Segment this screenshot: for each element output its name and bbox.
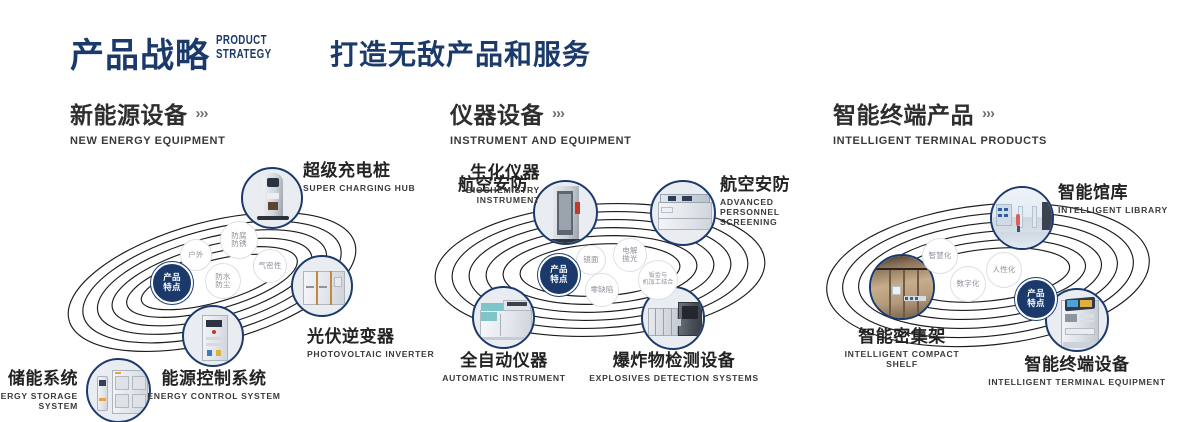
node-label-biochemistry-instrument: 生化仪器 BIOCHEMISTRY INSTRUMENT [432,158,540,205]
page-title-en-line1: PRODUCT [216,33,267,47]
node-label-en: INTELLIGENT COMPACT SHELF [841,349,963,369]
node-label-en: AUTOMATIC INSTRUMENT [420,373,588,383]
section-title-cn: 智能终端产品 [833,96,974,130]
feature-bubble-zero-defect: 零缺陷 [585,273,619,307]
node-label-cn: 爆炸物检测设备 [576,346,772,371]
energy-control-photo [184,307,242,365]
pv-inverter-photo [293,257,351,315]
node-label-intelligent-compact-shelf: 智能密集架 INTELLIGENT COMPACT SHELF [814,322,990,369]
node-label-cn: 超级充电桩 [303,156,415,181]
bubble-line1: 钣金与 [649,273,668,279]
bubble-line1: 人性化 [992,265,1015,274]
node-label-intelligent-terminal-equipment: 智能终端设备 INTELLIGENT TERMINAL EQUIPMENT [970,350,1184,387]
bubble-line2: 特点 [1027,298,1044,308]
biochemistry-photo [535,182,596,243]
bubble-line1: 气密性 [258,261,281,270]
node-photovoltaic-inverter[interactable] [291,255,353,317]
bubble-line2: 防锈 [231,239,246,248]
chevron-right-triple-icon: ››› [982,105,994,122]
node-label-super-charging-hub: 超级充电桩 SUPER CHARGING HUB [303,156,415,193]
node-label-intelligent-library: 智能馆库 INTELLIGENT LIBRARY [1058,178,1168,215]
section-title-cn: 仪器设备 [450,96,544,130]
node-advanced-personnel-screening[interactable] [650,180,716,246]
node-label-cn: 能源控制系统 [118,364,310,389]
node-label-en: EXPLOSIVES DETECTION SYSTEMS [576,373,772,383]
bubble-line1: 产品 [163,272,180,282]
node-label-en: INTELLIGENT LIBRARY [1058,205,1168,215]
page-header: 产品战略 PRODUCT STRATEGY 打造无敌产品和服务 [0,0,1200,90]
center-bubble-product-features: 产品 特点 [151,262,193,304]
bubble-line2: 防尘 [215,280,230,289]
section-title-instrument: 仪器设备››› INSTRUMENT AND EQUIPMENT [450,96,631,147]
bubble-line2: 特点 [550,274,567,284]
node-label-en: SUPER CHARGING HUB [303,183,415,193]
bubble-line2: 抛光 [622,254,637,263]
section-title-new-energy: 新能源设备››› NEW ENERGY EQUIPMENT [70,96,225,147]
node-label-cn: 智能馆库 [1058,178,1168,203]
feature-bubble-mirror-finish: 镜面 [576,245,606,275]
screening-photo [652,182,714,244]
bubble-line1: 产品 [1027,288,1044,298]
page-title-cn: 产品战略 [70,28,210,77]
charging-hub-photo [243,169,301,227]
bubble-line1: 数字化 [956,279,979,288]
node-automatic-instrument[interactable] [472,286,535,349]
node-label-cn: 智能密集架 [814,322,990,347]
node-label-en: ENERGY STORAGE SYSTEM [0,391,78,411]
bubble-line1: 智慧化 [928,251,951,260]
node-label-en: ENERGY CONTROL SYSTEM [118,391,310,401]
center-bubble-product-features: 产品 特点 [1015,278,1057,320]
node-intelligent-library[interactable] [990,186,1054,250]
node-label-cn: 智能终端设备 [970,350,1184,375]
section-title-intelligent-terminal: 智能终端产品››› INTELLIGENT TERMINAL PRODUCTS [833,96,1047,147]
feature-bubble-anticorrosion: 防腐 防锈 [220,221,258,259]
node-label-en: BIOCHEMISTRY INSTRUMENT [432,185,540,205]
node-label-energy-storage-system: 储能系统 ENERGY STORAGE SYSTEM [0,364,78,411]
page-title-en: PRODUCT STRATEGY [216,33,271,61]
bubble-line1: 零缺陷 [590,285,613,294]
product-strategy-infographic: 产品战略 PRODUCT STRATEGY 打造无敌产品和服务 新能源设备›››… [0,0,1200,422]
feature-bubble-sheetmetal-machining: 钣金与 机加工结合 [638,260,678,300]
cluster-intelligent-terminal: 智能馆库 INTELLIGENT LIBRARY 智能密集架 INTELLIGE… [790,150,1200,410]
node-label-cn: 生化仪器 [432,158,540,183]
bubble-line1: 户外 [188,250,203,259]
automatic-instrument-photo [474,288,533,347]
node-energy-control-system[interactable] [182,305,244,367]
node-label-energy-control-system: 能源控制系统 ENERGY CONTROL SYSTEM [118,364,310,401]
node-label-cn: 全自动仪器 [420,346,588,371]
chevron-right-triple-icon: ››› [552,105,564,122]
feature-bubble-waterproof-dustproof: 防水 防尘 [205,263,241,299]
section-title-en: NEW ENERGY EQUIPMENT [70,135,225,147]
bubble-line2: 机加工结合 [642,280,673,286]
page-slogan: 打造无敌产品和服务 [330,33,591,73]
section-title-cn: 新能源设备 [70,96,188,130]
center-bubble-product-features: 产品 特点 [538,254,580,296]
node-label-explosives-detection-systems: 爆炸物检测设备 EXPLOSIVES DETECTION SYSTEMS [576,346,772,383]
bubble-line1: 镜面 [583,255,598,264]
page-title-en-line2: STRATEGY [216,47,271,61]
section-title-en: INTELLIGENT TERMINAL PRODUCTS [833,135,1047,147]
intelligent-library-photo [992,188,1052,248]
chevron-right-triple-icon: ››› [196,105,208,122]
node-label-cn: 储能系统 [0,364,78,389]
node-label-en: INTELLIGENT TERMINAL EQUIPMENT [970,377,1184,387]
feature-bubble-humanized: 人性化 [986,252,1022,288]
feature-bubble-intelligent: 智慧化 [922,238,958,274]
cluster-instrument: 航空安防 生化仪器 BIOCHEMISTRY INSTRUMENT 航空安防 A… [400,150,820,410]
bubble-line2: 特点 [163,282,180,292]
section-title-en: INSTRUMENT AND EQUIPMENT [450,135,631,147]
node-super-charging-hub[interactable] [241,167,303,229]
cluster-new-energy: 储能系统 ENERGY STORAGE SYSTEM 超级充电桩 SUPER C… [0,150,420,410]
node-biochemistry-instrument[interactable] [533,180,598,245]
node-label-automatic-instrument: 全自动仪器 AUTOMATIC INSTRUMENT [420,346,588,383]
feature-bubble-digital: 数字化 [950,266,986,302]
bubble-line1: 产品 [550,264,567,274]
feature-bubble-airtightness: 气密性 [253,249,287,283]
